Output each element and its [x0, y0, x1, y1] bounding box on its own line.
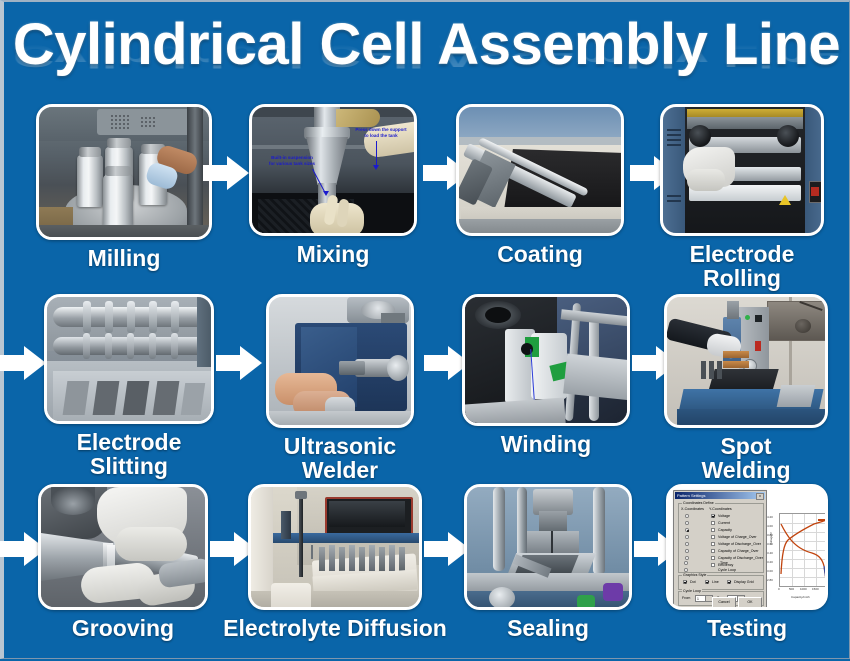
- flow-arrow-4: [0, 346, 46, 380]
- y-check-capacity-discharge-over[interactable]: [711, 556, 715, 560]
- option-label-capacity: Capacity: [718, 528, 732, 532]
- cancel-button[interactable]: Cancel: [712, 597, 736, 608]
- x-radio-current[interactable]: [685, 521, 689, 525]
- caption-coating: Coating: [426, 242, 654, 266]
- photo-ultrasonic-welder: [266, 294, 414, 428]
- process-step-coating[interactable]: Coating: [456, 104, 624, 236]
- x-radio-voltage[interactable]: [685, 514, 689, 518]
- ytick-6: 3.00: [767, 569, 773, 573]
- ytick-4: 3.40: [767, 551, 773, 555]
- ytick-7: 2.80: [767, 578, 773, 582]
- photo-electrode-slitting: [44, 294, 214, 424]
- chart-ylabel: Voltage/V: [769, 532, 773, 545]
- y-check-voltage[interactable]: [711, 514, 715, 518]
- xtick-0: 0: [778, 587, 780, 591]
- x-radio-voltage-discharge-over[interactable]: [685, 542, 689, 546]
- process-row-2: Electrode Slitting: [4, 294, 850, 479]
- photo-mixing: Press down the support to load the tank …: [249, 104, 417, 236]
- chart-xlabel: Capacity/mAh: [791, 595, 810, 599]
- cycle-loop-label: Cycle Loop: [682, 589, 702, 594]
- label-line: Line: [712, 580, 719, 584]
- photo-testing: Pattern Settings x Coordinates Define X-…: [666, 484, 828, 610]
- caption-ultrasonic-welder: Ultrasonic Welder: [236, 434, 444, 482]
- x-radio-capacity-charge-over[interactable]: [685, 549, 689, 553]
- photo-milling: [36, 104, 212, 240]
- testing-chart-plot: [779, 513, 828, 587]
- x-coordinates-header: X-Coordinates: [681, 507, 704, 511]
- xtick-1: 500: [789, 587, 794, 591]
- caption-mixing: Mixing: [219, 242, 447, 266]
- process-step-testing[interactable]: Pattern Settings x Coordinates Define X-…: [666, 484, 828, 610]
- testing-chart-panel: 4.20 4.00 3.80 3.60 3.40 3.20 3.00 2.80 …: [767, 487, 828, 610]
- ytick-1: 4.00: [767, 524, 773, 528]
- option-label-cycle-loop: Cycle Loop: [718, 568, 736, 572]
- option-label-capacity-charge-over: Capacity of Charge_Over: [718, 549, 759, 553]
- photo-winding: [462, 294, 630, 426]
- caption-testing: Testing: [636, 616, 850, 640]
- process-step-spot-welding[interactable]: Spot Welding: [664, 294, 828, 428]
- flow-arrow-5: [216, 346, 262, 380]
- graphics-style-label: Graphics Style: [682, 573, 707, 578]
- flow-arrow-1: [203, 156, 249, 190]
- option-label-voltage: Voltage: [718, 514, 730, 518]
- cycle-from-label: From: [682, 596, 690, 600]
- option-label-current: Current: [718, 521, 730, 525]
- process-step-grooving[interactable]: Grooving: [38, 484, 208, 610]
- caption-winding: Winding: [432, 432, 660, 456]
- x-radio-capacity[interactable]: [685, 528, 689, 532]
- xtick-2: 1000: [800, 587, 807, 591]
- caption-electrode-rolling: Electrode Rolling: [630, 242, 850, 290]
- process-step-milling[interactable]: Milling: [36, 104, 212, 240]
- ok-button[interactable]: OK: [738, 597, 762, 608]
- caption-spot-welding: Spot Welding: [634, 434, 850, 482]
- ytick-5: 3.20: [767, 560, 773, 564]
- caption-milling: Milling: [6, 246, 242, 270]
- x-radio-voltage-charge-over[interactable]: [685, 535, 689, 539]
- photo-electrolyte-diffusion: [248, 484, 422, 610]
- graphics-style-group: Graphics Style Dot Line Display Grid: [678, 575, 764, 590]
- process-step-ultrasonic-welder[interactable]: Ultrasonic Welder: [266, 294, 414, 428]
- option-label-time: Time: [720, 561, 728, 565]
- process-row-1: Milling: [4, 104, 850, 289]
- option-label-capacity-discharge-over: Capacity of Discharge_Over: [718, 556, 763, 560]
- poster-root: Cylindrical Cell Assembly Line Cylindric…: [0, 0, 850, 659]
- check-display-grid[interactable]: [727, 580, 731, 584]
- process-step-electrode-rolling[interactable]: Electrode Rolling: [660, 104, 824, 236]
- photo-electrode-rolling: [660, 104, 824, 236]
- page-title-reflection: Cylindrical Cell Assembly Line: [4, 40, 849, 72]
- process-step-mixing[interactable]: Press down the support to load the tank …: [249, 104, 417, 236]
- x-radio-time[interactable]: [684, 561, 688, 565]
- caption-electrode-slitting: Electrode Slitting: [14, 430, 244, 478]
- photo-spot-welding: [664, 294, 828, 428]
- photo-grooving: [38, 484, 208, 610]
- y-check-voltage-charge-over[interactable]: [711, 535, 715, 539]
- annotation-mixing-left: Built-in suspension for various tank siz…: [258, 155, 326, 166]
- option-label-voltage-charge-over: Voltage of Charge_Over: [718, 535, 757, 539]
- process-step-sealing[interactable]: Sealing: [464, 484, 632, 610]
- xtick-3: 1500: [812, 587, 819, 591]
- process-step-electrode-slitting[interactable]: Electrode Slitting: [44, 294, 214, 424]
- ytick-0: 4.20: [767, 515, 773, 519]
- coordinates-define-label: Coordinates Define: [682, 501, 715, 506]
- photo-sealing: [464, 484, 632, 610]
- cycle-from-input[interactable]: 1: [695, 595, 713, 602]
- label-dot: Dot: [690, 580, 696, 584]
- label-display-grid: Display Grid: [734, 580, 754, 584]
- process-step-winding[interactable]: Winding: [462, 294, 630, 426]
- pattern-settings-dialog[interactable]: Pattern Settings x Coordinates Define X-…: [673, 490, 767, 610]
- annotation-mixing-right: Press down the support to load the tank: [348, 127, 414, 138]
- process-row-3: Grooving: [4, 484, 850, 661]
- dialog-close-button[interactable]: x: [756, 493, 764, 500]
- y-check-capacity[interactable]: [711, 528, 715, 532]
- y-check-current[interactable]: [711, 521, 715, 525]
- option-label-voltage-discharge-over: Voltage of Discharge_Over: [718, 542, 761, 546]
- y-check-voltage-discharge-over[interactable]: [711, 542, 715, 546]
- photo-coating: [456, 104, 624, 236]
- process-step-electrolyte-diffusion[interactable]: Electrolyte Diffusion: [248, 484, 422, 610]
- dialog-titlebar: Pattern Settings: [675, 492, 765, 499]
- x-radio-capacity-discharge-over[interactable]: [685, 556, 689, 560]
- y-coordinates-header: Y-Coordinates: [709, 507, 732, 511]
- caption-sealing: Sealing: [434, 616, 662, 640]
- check-line[interactable]: [705, 580, 709, 584]
- y-check-efficiency[interactable]: [711, 563, 715, 567]
- y-check-capacity-charge-over[interactable]: [711, 549, 715, 553]
- check-dot[interactable]: [683, 580, 687, 584]
- x-radio-cycle-loop[interactable]: [684, 568, 688, 572]
